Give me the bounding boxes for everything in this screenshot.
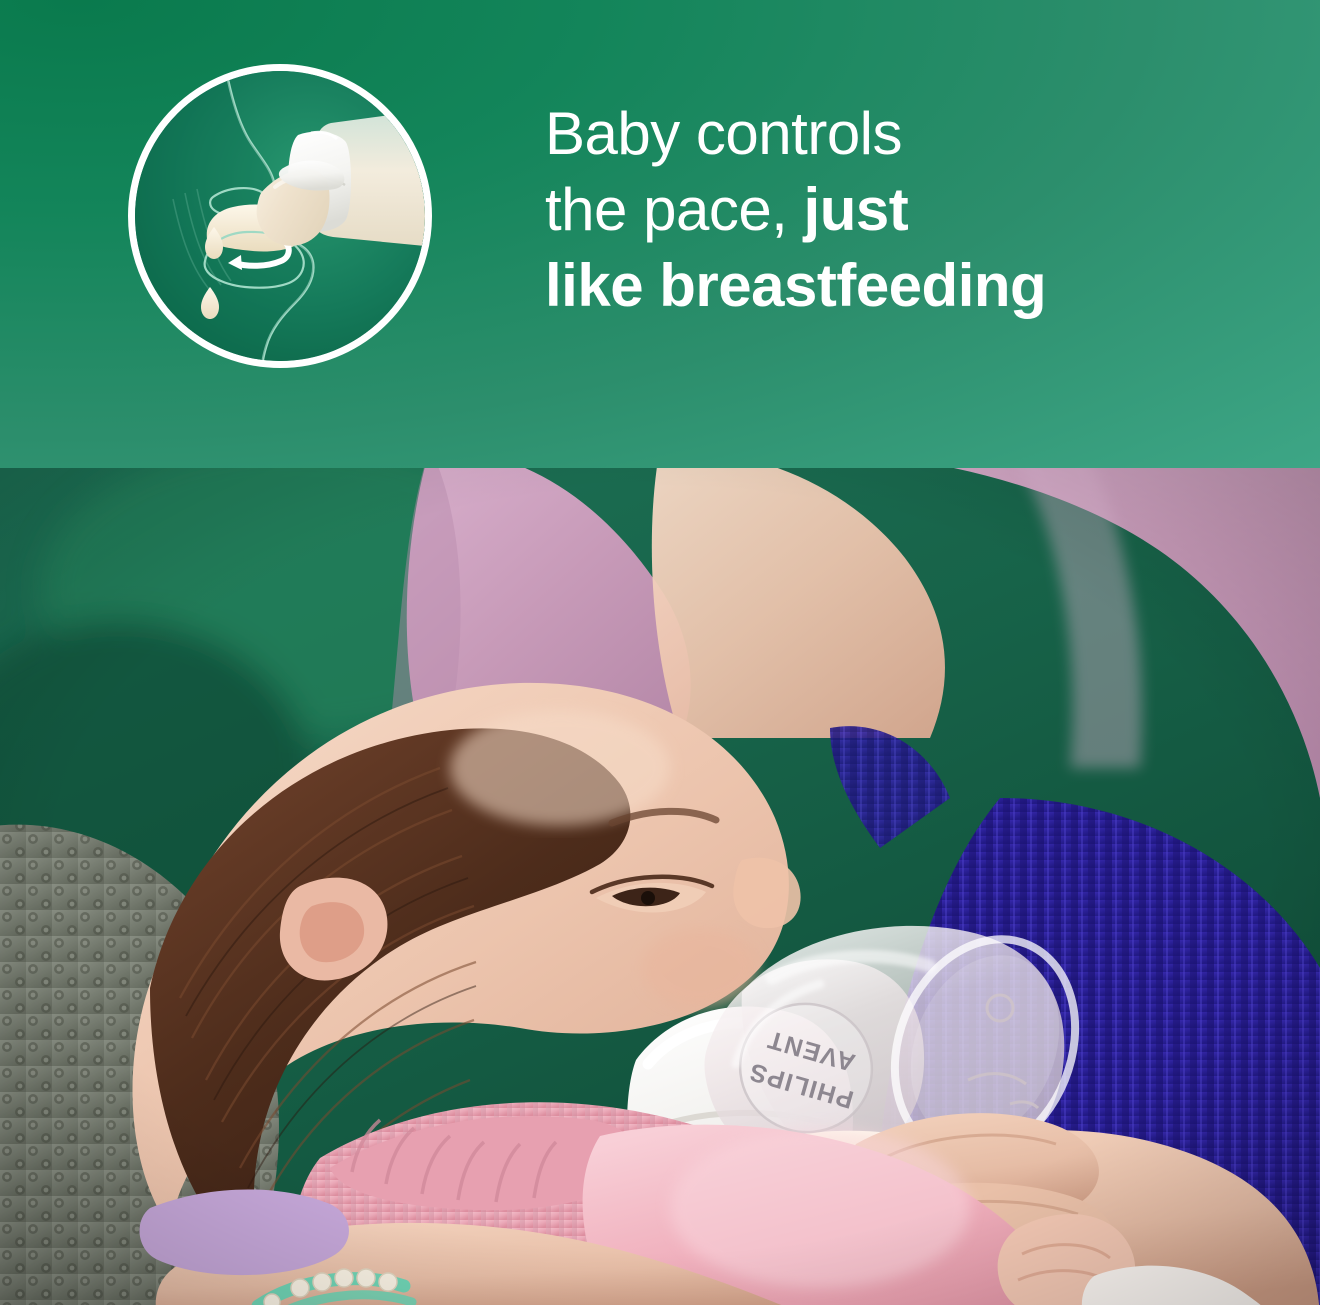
product-feature-card: Baby controls the pace, just like breast… <box>0 0 1320 1305</box>
headline-line-3-bold: like breastfeeding <box>545 252 1046 319</box>
lifestyle-photo: PHILIPS AVENT 120 <box>0 468 1320 1305</box>
badge-illustration <box>135 71 425 361</box>
baby-feeding-cross-section-icon <box>128 64 432 368</box>
headline-line-1: Baby controls <box>545 96 1245 172</box>
feature-banner: Baby controls the pace, just like breast… <box>0 0 1320 468</box>
banner-headline: Baby controls the pace, just like breast… <box>545 96 1245 324</box>
headline-line-3: like breastfeeding <box>545 248 1245 324</box>
headline-line-2-regular: the pace, <box>545 176 804 243</box>
headline-line-2: the pace, just <box>545 172 1245 248</box>
headline-line-2-bold: just <box>804 176 909 243</box>
